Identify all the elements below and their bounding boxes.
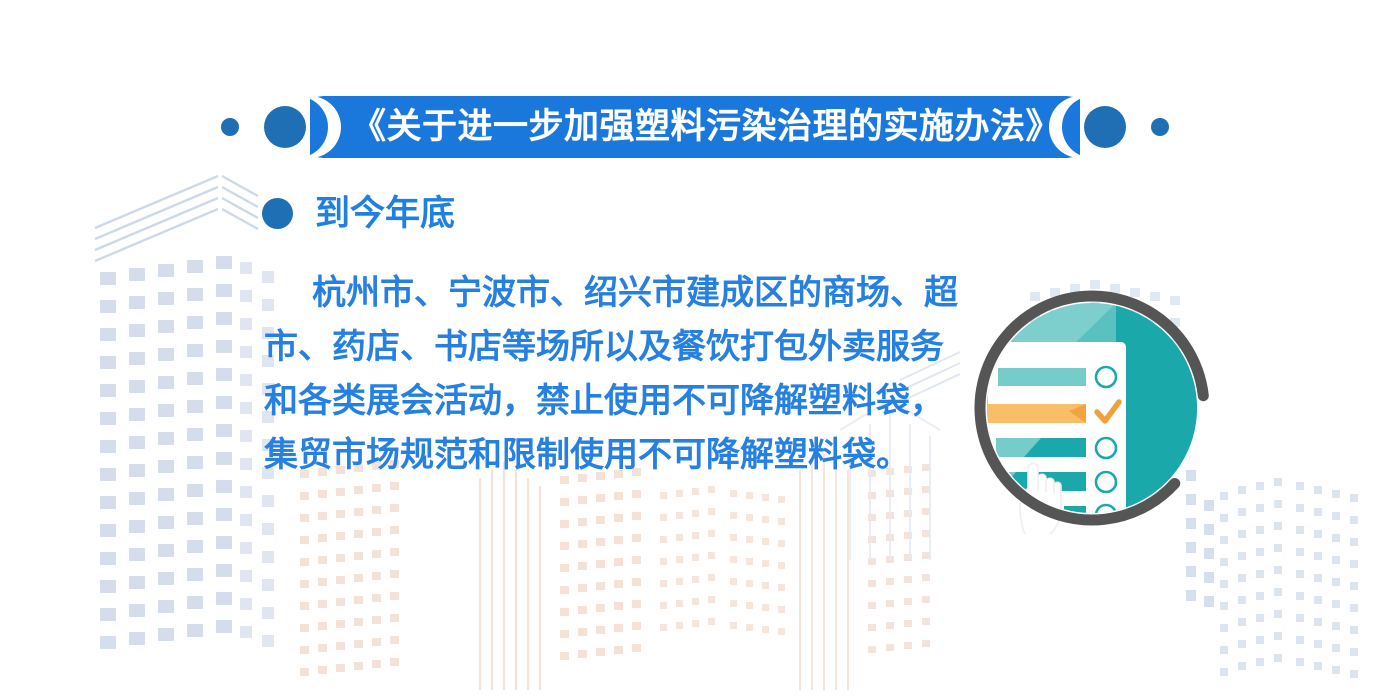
title-banner: 《关于进一步加强塑料污染治理的实施办法》: [0, 96, 1400, 158]
title-text: 《关于进一步加强塑料污染治理的实施办法》: [351, 96, 1061, 158]
checklist-bar-1: [998, 368, 1086, 386]
right-line-tower: [800, 454, 848, 690]
left-tower-roof: [95, 176, 258, 261]
checklist-circle-illustration: [966, 282, 1218, 534]
subheading-text: 到今年底: [315, 196, 455, 231]
center-peach-tower: [560, 468, 641, 660]
banner-left-small-dot: [221, 118, 239, 136]
checklist-bar-2: [986, 404, 1086, 423]
center-right-dot-tower: [660, 486, 785, 635]
right-peach-tower: [868, 464, 930, 653]
slide-canvas: 《关于进一步加强塑料污染治理的实施办法》 到今年底 杭州市、宁波市、绍兴市建成区…: [0, 0, 1400, 700]
banner-right-big-dot: [1084, 106, 1126, 148]
center-line-tower: [480, 462, 540, 690]
body-paragraph: 杭州市、宁波市、绍兴市建成区的商场、超市、药店、书店等场所以及餐饮打包外卖服务和…: [264, 266, 964, 482]
subheading-row: 到今年底: [262, 196, 455, 231]
midleft-peach-tower: [300, 460, 399, 676]
left-tower-windows-front: [100, 256, 232, 649]
banner-left-big-dot: [264, 106, 306, 148]
bullet-dot-icon: [262, 198, 293, 229]
banner-right-small-dot: [1151, 118, 1169, 136]
far-right-blue-tower: [1220, 478, 1358, 678]
